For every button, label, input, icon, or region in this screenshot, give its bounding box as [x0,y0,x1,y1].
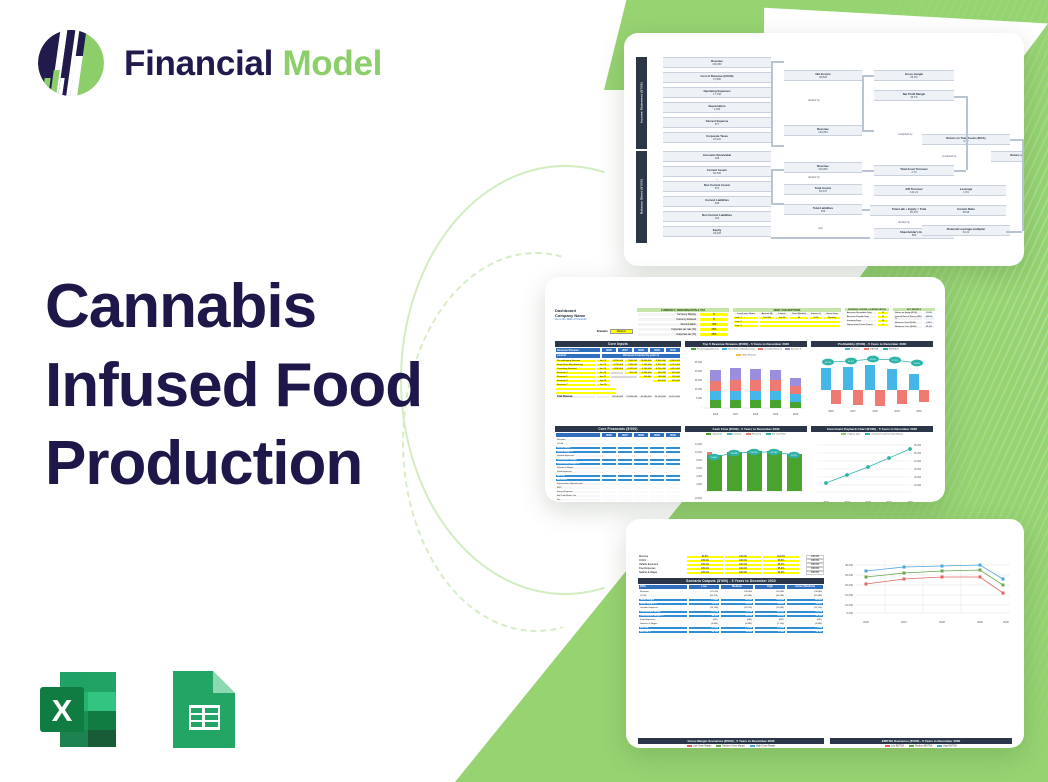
stage2-net-income: Net Income48,828 [784,70,862,81]
svg-text:15,000: 15,000 [845,593,853,597]
google-sheets-icon[interactable] [157,663,250,756]
svg-text:10,000: 10,000 [845,603,853,607]
connector [1022,139,1024,157]
page-title-line-3: Production [45,425,465,504]
connector [862,209,870,211]
dashboard-screenshot: Dashboard Company Name Go to the Table o… [545,277,945,502]
svg-text:60,000: 60,000 [914,445,922,447]
bs-row: Current Liabilities848 [663,196,771,207]
chart-legend-gross-margin: Low Gross Margin Medium Gross Margin Hig… [638,744,824,748]
is-row: Operating Expenses17,758 [663,87,771,98]
svg-text:2026: 2026 [863,620,869,624]
operator-add: Add [818,227,823,230]
bs-row: Equity49,628 [663,226,771,237]
page-title: Cannabis Infused Food Production [45,268,465,504]
svg-text:30,000: 30,000 [845,563,853,567]
svg-text:44.1%: 44.1% [825,362,831,364]
balance-sheet-group: Accounts Receivable948 Current Assets50,… [663,151,771,237]
svg-text:2030: 2030 [1003,620,1009,624]
bs-row: Non Current Assets570 [663,181,771,192]
connector [1022,157,1024,231]
operator-divided-by-2: divided by [808,176,820,179]
brand-logo: Financial Model [34,26,382,100]
bs-row: Accounts Receivable948 [663,151,771,162]
svg-text:20,000: 20,000 [695,370,703,373]
svg-text:20,000: 20,000 [914,477,922,479]
scenario-table-rows: Revenue123,120136,800150,480136,800COGS(… [638,590,824,634]
connector [954,170,966,172]
stage5-roe: Return on Equity (ROE)61.03 [991,151,1024,162]
connector [862,170,874,172]
svg-text:30,000: 30,000 [914,469,922,471]
svg-text:12,000: 12,000 [695,444,703,446]
slide-canvas: Financial Model Cannabis Infused Food Pr… [0,0,1048,782]
connector [1006,231,1022,233]
connector [954,96,966,98]
connector [771,203,784,205]
svg-text:2027: 2027 [850,410,856,413]
operator-multiplied-by: multiplied by [898,133,912,136]
svg-text:2,000: 2,000 [696,484,702,486]
svg-text:40.1%: 40.1% [914,363,920,365]
connector [966,140,968,170]
dupont-ratio-tree-card[interactable]: Income Statement ($'000) Balance Sheet (… [624,33,1024,266]
operator-divided-by-3: divided by [898,221,910,224]
svg-text:40,000: 40,000 [914,461,922,463]
page-title-line-1: Cannabis [45,268,465,347]
svg-text:8,000: 8,000 [696,460,702,462]
svg-text:2026: 2026 [713,413,719,416]
income-statement-group: Revenue136,800 - Cost of Revenue (COGS)4… [663,57,771,143]
chart-revenue-scenarios: 30,00025,00020,000 15,00010,0005,000 202… [830,555,1012,629]
connector [862,75,864,130]
scenario-select[interactable]: Medium [610,329,633,334]
svg-text:2028: 2028 [872,410,878,413]
svg-text:2027: 2027 [844,501,850,502]
brand-name-part2: Model [282,44,382,83]
rail-income-statement: Income Statement ($'000) [636,57,647,149]
connector [771,237,870,239]
svg-text:2029: 2029 [977,620,983,624]
scenario-screenshot: Revenue90.0%100.0%110.0%100.0% COGS105.0… [626,519,1024,748]
svg-text:25,000: 25,000 [695,361,703,364]
svg-text:10,744: 10,744 [771,452,778,454]
operator-multiplied-by-2: multiplied by [942,155,956,158]
debt-row: Loan 3 [733,324,841,328]
chart-cash-flow: 12,00010,0008,000 6,0004,0002,000 -(2,00… [685,437,807,502]
core-inputs-total-row: Total Revenue 26,100,000 27,900,000 30,4… [555,395,681,399]
svg-text:15,000: 15,000 [695,379,703,382]
is-row: Interest Expense577 [663,117,771,128]
svg-text:2027: 2027 [733,413,739,416]
svg-text:50,000: 50,000 [914,453,922,455]
svg-text:20,000: 20,000 [845,583,853,587]
brand-name-part1: Financial [124,44,273,83]
bs-row: Current Assets50,006 [663,166,771,177]
table-row: EBITDA %42.1%52.0%57.0%52.0% [638,630,824,634]
is-row: Revenue136,800 [663,57,771,68]
operator-divided-by: divided by [808,99,820,102]
svg-text:2028: 2028 [753,413,759,416]
svg-text:5,000: 5,000 [696,397,703,400]
svg-text:10,000: 10,000 [914,485,922,487]
svg-text:4,000: 4,000 [696,476,702,478]
connector [1010,139,1022,141]
brand-wordmark: Financial Model [124,46,382,81]
revenue-stream-rows: Pre-packaging ServicesJan-268,910,0007,9… [555,359,681,395]
svg-text:41.2%: 41.2% [848,361,854,363]
financial-model-circle-bars-logo [34,26,108,100]
svg-text:2030: 2030 [793,413,799,416]
chart-legend-ebitda: Low EBITDA Medium EBITDA High EBITDA [830,744,1012,748]
connector [862,130,874,132]
connector [771,169,773,203]
stage2-total-assets: Total Assets50,576 [784,184,862,195]
svg-text:-: - [701,406,702,409]
stage2-revenue: Revenue136,800 [784,125,862,136]
stage4-current-ratio: Current Ratio58.98 [926,205,1006,216]
stage3-net-profit-margin: Net Profit Margin35.7% [874,90,954,101]
svg-text:2026: 2026 [823,501,829,502]
chart-top5-revenue-streams: 25,00020,00015,000 10,0005,000- [685,357,807,423]
svg-text:10,000: 10,000 [695,452,703,454]
svg-text:2028: 2028 [865,501,871,502]
connector [771,61,773,145]
stage4-financial-leverage: Financial Leverage multiplier63.22 [922,225,1010,236]
chart-profitability: 44.1% 41.2% 43.0% 47.3% 40.1% 2026202720… [811,352,933,418]
stage2-total-liabilities: Total Liabilities949 [784,204,862,215]
file-format-icons: X [31,663,250,756]
chart-investment-payback: 60,00050,00040,000 30,00020,00010,000- 2… [811,437,933,502]
is-row: Corporate Taxes20,926 [663,132,771,143]
scenario-label: Scenario [597,330,608,333]
svg-text:10,258: 10,258 [731,453,738,455]
svg-text:10,712: 10,712 [751,452,758,454]
svg-text:43.0%: 43.0% [870,359,876,361]
scenario-assumption-grid: Revenue90.0%100.0%110.0%100.0% COGS105.0… [638,555,824,575]
scenario-card[interactable]: Revenue90.0%100.0%110.0%100.0% COGS105.0… [626,519,1024,748]
rail-balance-sheet: Balance Sheet ($'000) [636,151,647,243]
svg-text:5,000: 5,000 [847,611,854,615]
currency-table: Currency Display$ Currency Entered$ Deno… [637,312,729,337]
svg-text:2030: 2030 [907,501,913,502]
core-financials-rows: RevenueCOGSGross MarginGross Margin %Var… [555,438,681,502]
dupont-screenshot: Income Statement ($'000) Balance Sheet (… [624,33,1024,266]
svg-text:2028: 2028 [939,620,945,624]
svg-text:47.3%: 47.3% [892,360,898,362]
dashboard-toc-link[interactable]: Go to the Table of Contents [555,318,633,321]
stage3-total-asset-turnover: Total Asset Turnover2.70 [874,165,954,176]
svg-text:9,723: 9,723 [791,455,797,457]
svg-text:-: - [701,491,702,493]
svg-text:2029: 2029 [886,501,892,502]
svg-text:2030: 2030 [916,410,922,413]
svg-text:X: X [52,693,73,728]
is-row: Cost of Revenue (COGS)47,880 [663,72,771,83]
connector [966,96,968,140]
page-title-line-2: Infused Food [45,347,465,426]
svg-text:8,944: 8,944 [711,457,717,459]
svg-text:-: - [914,492,915,494]
stage2-revenue-2: Revenue136,800 [784,162,862,173]
connector [771,145,784,147]
svg-text:2029: 2029 [894,410,900,413]
is-row: Depreciation1,265 [663,102,771,113]
svg-text:25,000: 25,000 [845,573,853,577]
svg-text:6,000: 6,000 [696,468,702,470]
svg-text:10,000: 10,000 [695,388,703,391]
svg-text:2026: 2026 [828,410,834,413]
svg-text:2027: 2027 [901,620,907,624]
chart-legend-top5: Pre-packaging Services Retail Store & Ma… [685,347,807,357]
svg-text:(2,000): (2,000) [695,498,703,500]
dashboard-card[interactable]: Dashboard Company Name Go to the Table o… [545,277,945,502]
bs-row: Non Current Liabilities100 [663,211,771,222]
microsoft-excel-icon[interactable]: X [31,663,124,756]
stage4-leverage: Leverage1.9% [926,185,1006,196]
svg-text:2029: 2029 [773,413,779,416]
stage3-gross-margin: Gross margin65.0% [874,70,954,81]
